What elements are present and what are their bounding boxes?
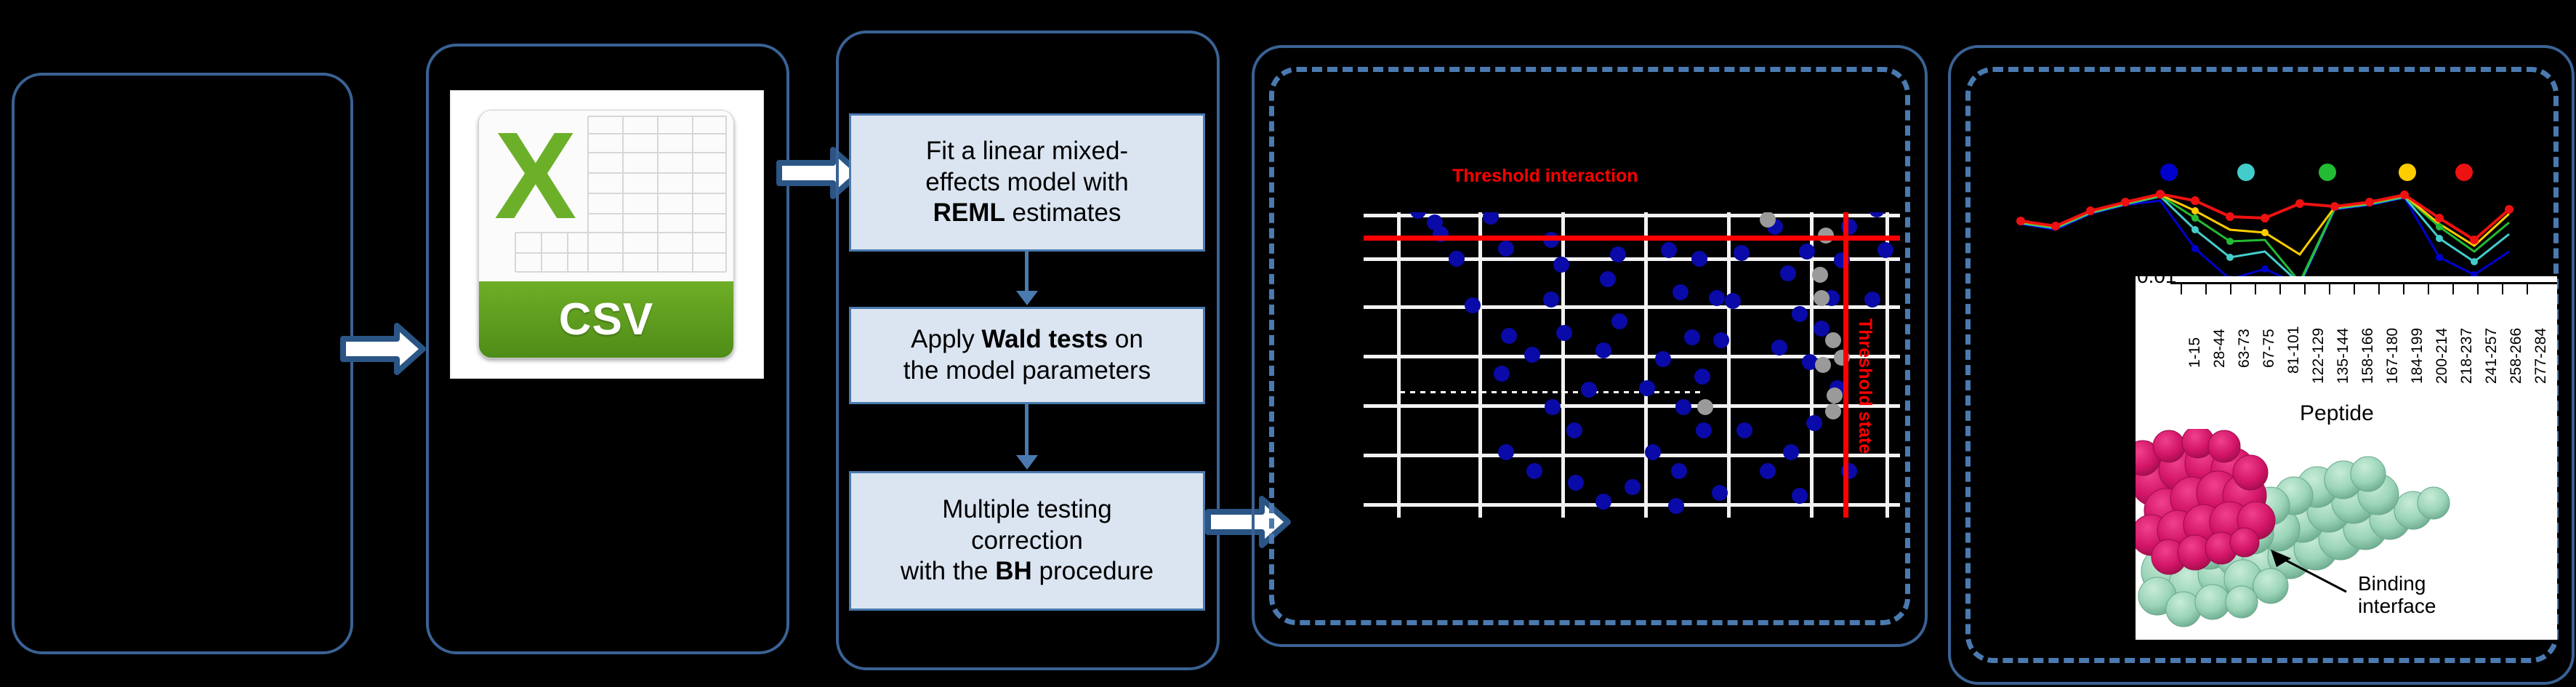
binding-interface-annotation: Binding interface xyxy=(2358,573,2436,618)
axis-tick xyxy=(2403,283,2404,294)
step1-line3-tail: estimates xyxy=(1005,198,1122,227)
axis-tick xyxy=(2230,283,2231,294)
legend-dot-series-2 xyxy=(2237,164,2255,181)
x-tick-label: 167-180 xyxy=(2384,328,2402,384)
step3-line2: correction xyxy=(971,526,1083,555)
axis-tick xyxy=(2428,283,2429,294)
annotation-line-2: interface xyxy=(2358,595,2436,617)
threshold-state-label: Threshold state xyxy=(1854,318,1875,454)
axis-tick xyxy=(2279,283,2281,294)
x-tick-label: 277-284 xyxy=(2532,328,2550,384)
step-wald-tests-box[interactable]: Apply Wald tests on the model parameters xyxy=(849,307,1205,404)
csv-x-letter: X xyxy=(494,118,596,246)
legend-dot-series-1 xyxy=(2160,164,2178,181)
step2-lead: Apply xyxy=(911,325,981,353)
axis-tick xyxy=(2255,283,2256,294)
axis-tick xyxy=(2181,283,2182,294)
arrow-into-stage xyxy=(340,321,426,377)
connector-arrowhead-step2 xyxy=(1016,291,1038,305)
axis-tick xyxy=(2378,283,2380,294)
csv-file-card: X CSV xyxy=(451,91,763,378)
connector-arrowhead-step3 xyxy=(1016,455,1038,470)
x-tick-label: 81-101 xyxy=(2285,326,2303,374)
step3-line3-lead: with the xyxy=(901,557,995,585)
x-tick-label: 184-199 xyxy=(2409,328,2426,384)
axis-tick xyxy=(2452,283,2454,294)
x-tick-label: 258-266 xyxy=(2508,328,2525,384)
x-tick-label: 218-237 xyxy=(2458,328,2476,384)
step1-bold-reml: REML xyxy=(933,198,1005,227)
legend-dot-series-3 xyxy=(2319,164,2336,181)
threshold-scatter-plot xyxy=(1364,212,1900,518)
x-tick-label: 135-144 xyxy=(2335,328,2352,384)
x-tick-label: 241-257 xyxy=(2483,328,2500,384)
csv-band-label: CSV xyxy=(559,294,653,345)
axis-tick xyxy=(2502,283,2503,294)
step1-line1: Fit a linear mixed- xyxy=(926,137,1128,165)
step1-line2: effects model with xyxy=(925,168,1129,196)
x-tick-label: 63-73 xyxy=(2236,329,2253,368)
step-bh-correction-text: Multiple testing correction with the BH … xyxy=(893,494,1161,587)
connector-step2-step3 xyxy=(1025,404,1029,461)
legend-dot-series-5 xyxy=(2455,164,2473,181)
scatter-points-layer xyxy=(1364,212,1900,518)
axis-tick xyxy=(2329,283,2330,294)
axis-tick xyxy=(2205,283,2207,294)
axis-tick xyxy=(2477,283,2479,294)
peptide-profile-chart xyxy=(2013,182,2544,291)
step3-bold-bh: BH xyxy=(995,557,1032,585)
step-fit-model-text: Fit a linear mixed- effects model with R… xyxy=(918,136,1136,229)
x-tick-label: 158-166 xyxy=(2359,328,2377,384)
connector-step1-step2 xyxy=(1025,252,1029,297)
threshold-interaction-line xyxy=(1364,236,1900,241)
step-wald-tests-text: Apply Wald tests on the model parameters xyxy=(896,324,1158,386)
csv-band: CSV xyxy=(479,281,733,358)
csv-file-icon: X CSV xyxy=(478,110,734,358)
annotation-line-1: Binding xyxy=(2358,572,2426,595)
protein-structure-graphic xyxy=(2136,429,2550,640)
axis-tick xyxy=(2304,283,2306,294)
step-bh-correction-box[interactable]: Multiple testing correction with the BH … xyxy=(849,471,1205,611)
peptide-figure-card: 0.01 1-15 28-44 63-73 67-75 81-101 122-1… xyxy=(2136,276,2557,640)
x-axis-title: Peptide xyxy=(2300,401,2374,426)
x-tick-label: 67-75 xyxy=(2261,329,2278,368)
step2-tail: on xyxy=(1108,325,1143,353)
step2-line2: the model parameters xyxy=(903,356,1151,385)
peptide-profile-lines xyxy=(2013,182,2544,291)
step2-bold-wald: Wald tests xyxy=(981,325,1108,353)
x-axis-line xyxy=(2170,282,2557,284)
x-tick-label: 200-214 xyxy=(2434,328,2451,384)
legend-dot-series-4 xyxy=(2399,164,2416,181)
x-tick-label: 1-15 xyxy=(2186,337,2204,368)
axis-tick xyxy=(2527,283,2528,294)
threshold-state-line xyxy=(1843,212,1848,518)
axis-tick xyxy=(2354,283,2355,294)
x-tick-label: 28-44 xyxy=(2211,329,2229,368)
empty-stage-panel xyxy=(12,73,353,654)
step-fit-model-box[interactable]: Fit a linear mixed- effects model with R… xyxy=(849,113,1205,252)
step3-line3-tail: procedure xyxy=(1032,557,1154,585)
threshold-interaction-label: Threshold interaction xyxy=(1452,166,1638,187)
step3-line1: Multiple testing xyxy=(942,495,1111,523)
x-tick-label: 122-129 xyxy=(2310,328,2327,384)
